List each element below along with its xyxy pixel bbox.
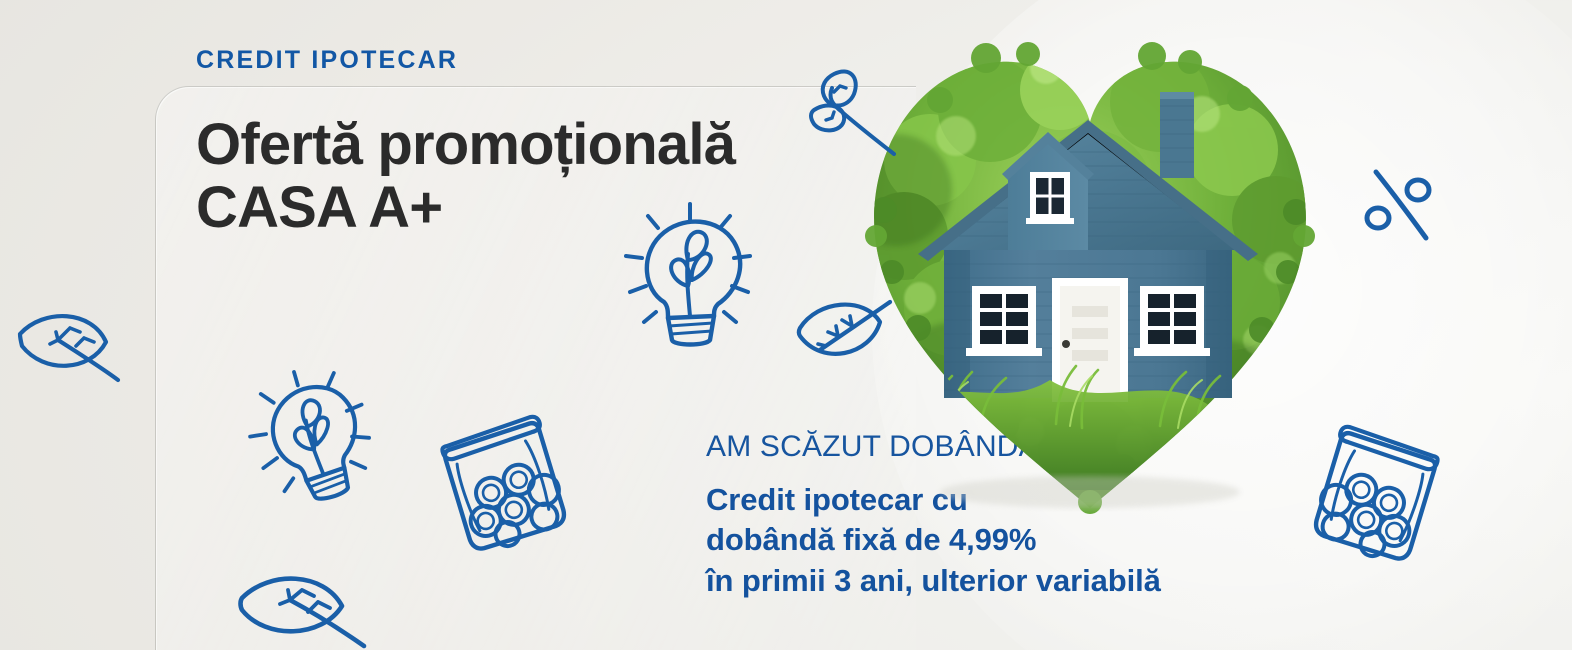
- right-window: [1134, 286, 1210, 356]
- eco-house-in-heart-of-foliage: [860, 40, 1320, 510]
- leaf-sprig-doodle: [798, 58, 902, 162]
- lightbulb-plant-doodle-top: [618, 198, 758, 350]
- product-label: CREDIT IPOTECAR: [196, 46, 458, 75]
- lightbulb-plant-doodle-bottom: [248, 368, 372, 502]
- savings-jar-doodle-left: [430, 408, 572, 550]
- door-knob: [1062, 340, 1070, 348]
- leaf-doodle-center: [790, 288, 898, 380]
- percent-doodle: [1352, 158, 1444, 250]
- leaf-doodle-left: [14, 300, 124, 390]
- savings-jar-doodle-right: [1308, 418, 1450, 560]
- promo-banner: CREDIT IPOTECAR Ofertă promoțională CASA…: [0, 0, 1572, 650]
- chimney: [1160, 92, 1194, 178]
- left-window: [966, 286, 1042, 356]
- attic-window: [1026, 172, 1074, 224]
- leaf-doodle-bottom-left: [232, 562, 372, 650]
